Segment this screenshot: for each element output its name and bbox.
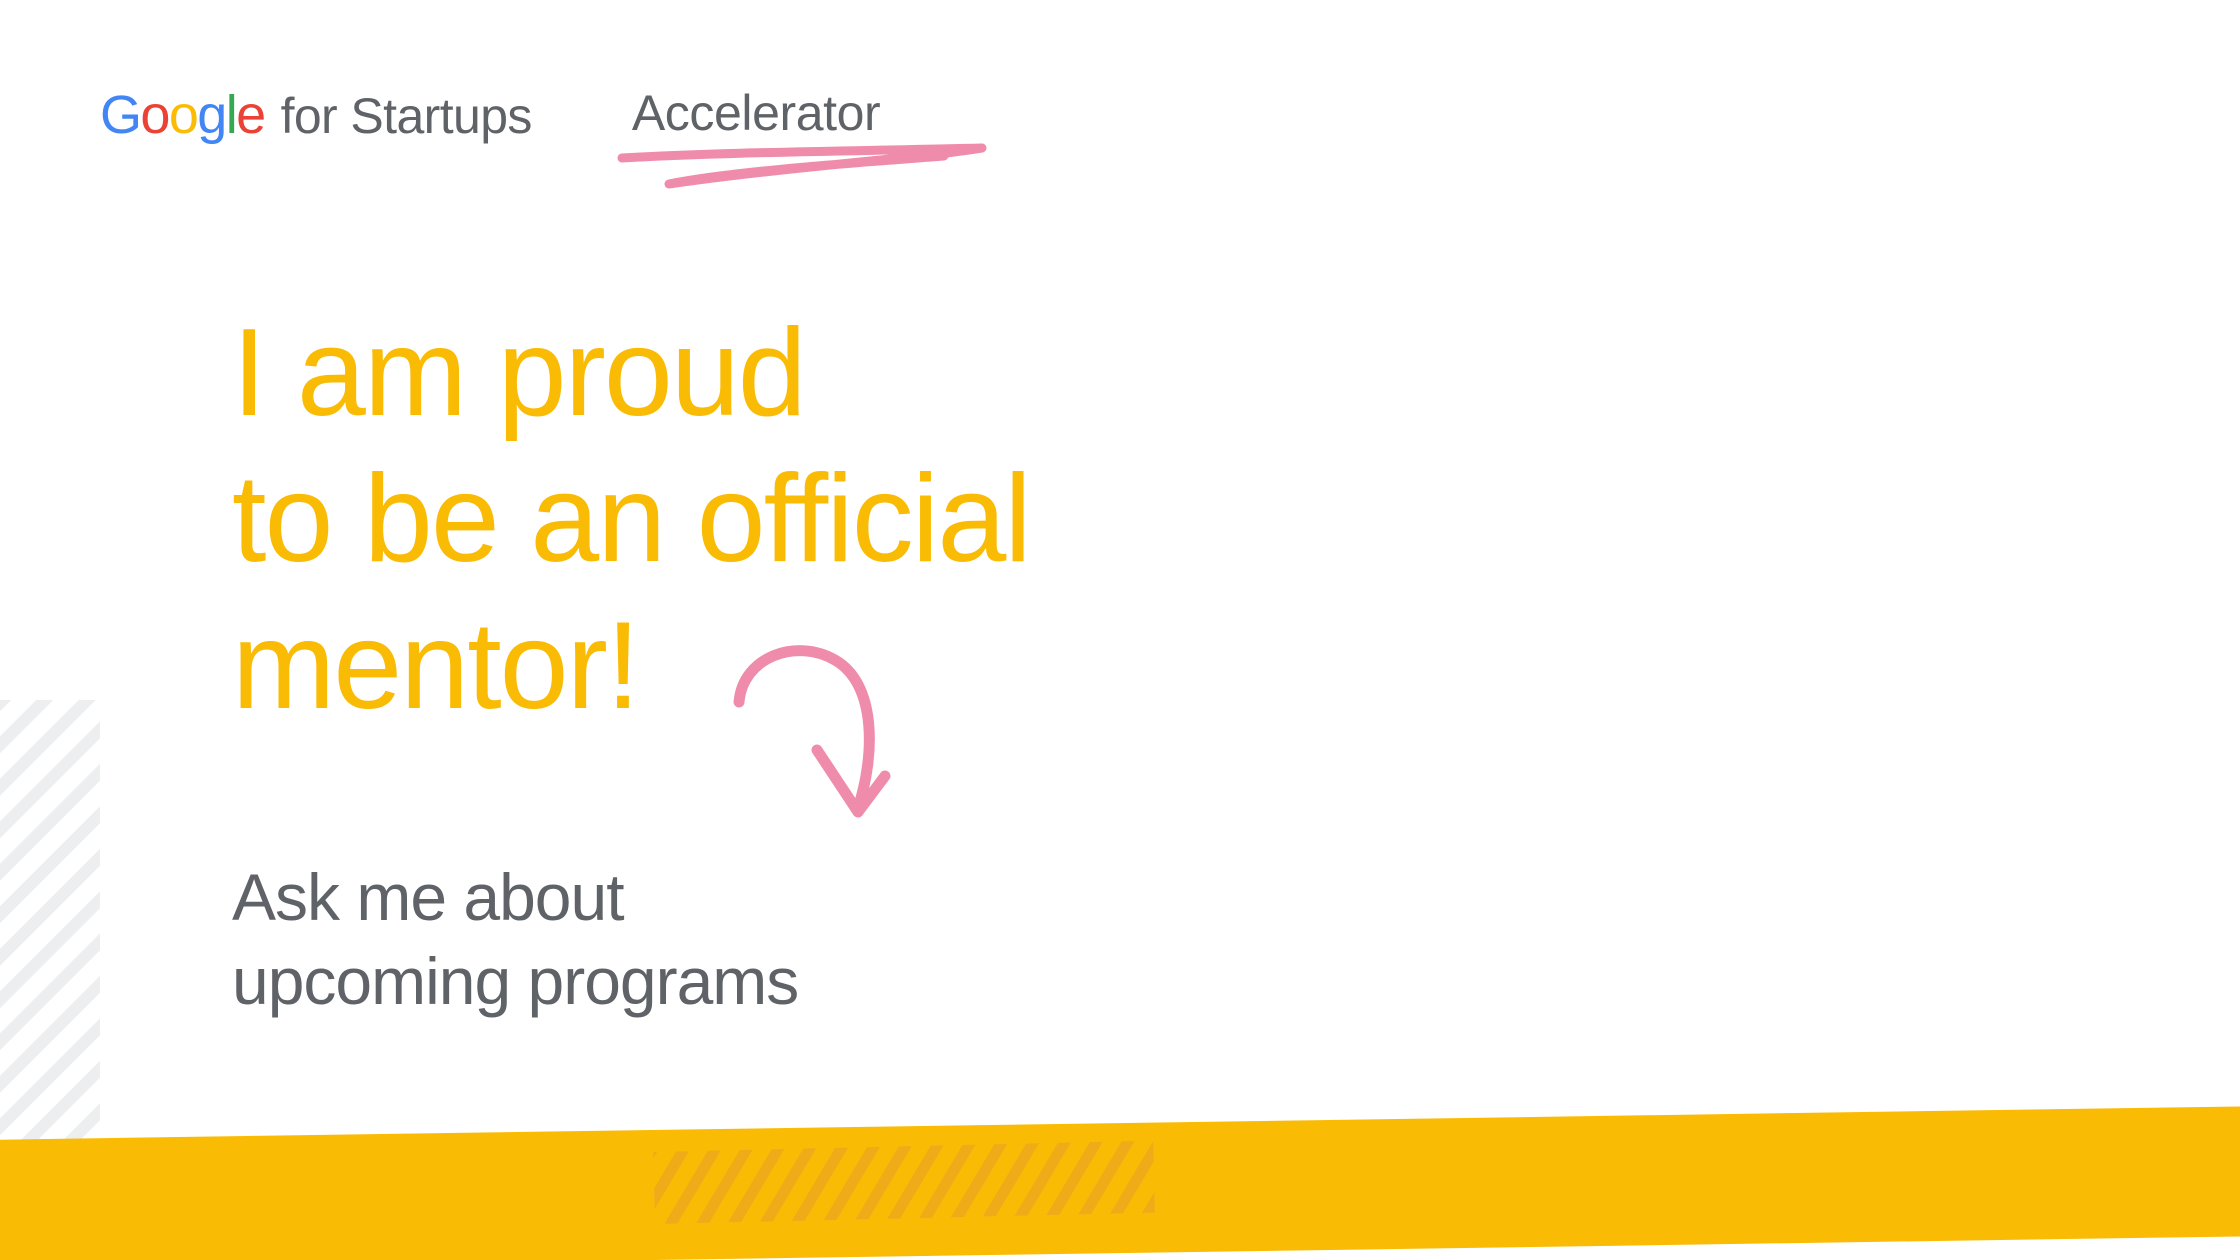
subtitle: Ask me about upcoming programs [232, 855, 798, 1024]
program-name-block: Accelerator [632, 88, 880, 138]
logo-letter-l-green: l [226, 85, 236, 145]
headline: I am proud to be an official mentor! [232, 300, 1030, 739]
logo-letter-o-red: o [140, 85, 168, 145]
logo-letter-o-yellow: o [169, 85, 197, 145]
google-for-startups-logo: Google for Startups [100, 88, 532, 142]
google-wordmark: Google [100, 88, 265, 142]
bottom-hatch-decoration [653, 1141, 1155, 1224]
headline-line-2: to be an official [232, 446, 1030, 592]
program-name-label: Accelerator [632, 88, 880, 138]
header: Google for Startups Accelerator [100, 88, 880, 142]
for-startups-label: for Startups [281, 91, 532, 141]
hand-drawn-underline-icon [614, 140, 994, 200]
slide-canvas: Google for Startups Accelerator I am pro… [0, 0, 2240, 1260]
subtitle-line-1: Ask me about [232, 855, 798, 939]
subtitle-line-2: upcoming programs [232, 939, 798, 1023]
left-hatch-decoration [0, 700, 100, 1205]
logo-letter-g-blue: G [100, 85, 140, 145]
logo-letter-g-blue-2: g [197, 85, 225, 145]
headline-line-1: I am proud [232, 300, 1030, 446]
logo-letter-e-red: e [236, 85, 264, 145]
headline-line-3: mentor! [232, 593, 638, 739]
